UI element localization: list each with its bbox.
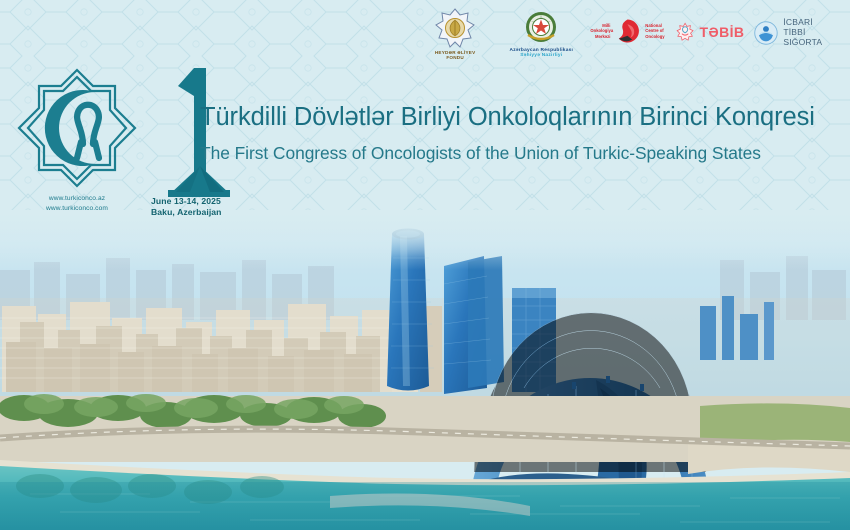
conference-banner: HEYDƏR ƏLİYEV FONDU Azərbaycan Respublik… <box>0 0 850 530</box>
title-english: The First Congress of Oncologists of the… <box>200 143 850 164</box>
sponsor-national-centre-of-oncology: MilliOnkologiyaMərkəzi NationalCentre of… <box>590 18 666 44</box>
ministry-of-health-icon <box>522 8 560 46</box>
oncology-label-en: NationalCentre ofOncology <box>645 23 666 39</box>
insurance-label-line2: TİBBİ SIĞORTA <box>783 28 842 48</box>
event-location: Baku, Azerbaijan <box>151 207 222 218</box>
sponsor-tebib: TƏBİB <box>676 20 744 44</box>
sponsor-compulsory-medical-insurance: İCBARİ TİBBİ SIĞORTA <box>754 18 842 47</box>
url-com[interactable]: www.turkiconco.com <box>17 204 137 214</box>
sponsor-heydar-aliyev-foundation: HEYDƏR ƏLİYEV FONDU <box>418 8 492 60</box>
numeral-one-monument <box>152 66 230 198</box>
sponsor-label-line2: FONDU <box>435 55 476 60</box>
sponsor-ministry-of-health: Azərbaycan Respublikası Səhiyyə Nazirliy… <box>502 8 580 59</box>
logo-urls: www.turkiconco.az www.turkiconco.com <box>17 194 137 213</box>
event-dates: June 13-14, 2025 <box>151 196 222 207</box>
event-meta: June 13-14, 2025 Baku, Azerbaijan <box>151 196 222 219</box>
oncology-label-az: MilliOnkologiyaMərkəzi <box>590 23 610 39</box>
compulsory-medical-insurance-icon <box>754 20 778 46</box>
baku-skyline-photo <box>0 210 850 530</box>
heydar-aliyev-foundation-icon <box>435 8 475 48</box>
sponsor-logo-strip: HEYDƏR ƏLİYEV FONDU Azərbaycan Respublik… <box>418 8 842 66</box>
tebib-icon <box>676 20 694 44</box>
tebib-wordmark: TƏBİB <box>700 24 745 40</box>
title-azerbaijani: Türkdilli Dövlətlər Birliyi Onkoloqların… <box>200 103 850 132</box>
national-centre-of-oncology-icon <box>615 18 640 44</box>
turkic-oncology-logo <box>17 68 137 188</box>
sponsor-label-line2: Səhiyyə Nazirliyi <box>510 53 574 58</box>
url-az[interactable]: www.turkiconco.az <box>17 194 137 204</box>
